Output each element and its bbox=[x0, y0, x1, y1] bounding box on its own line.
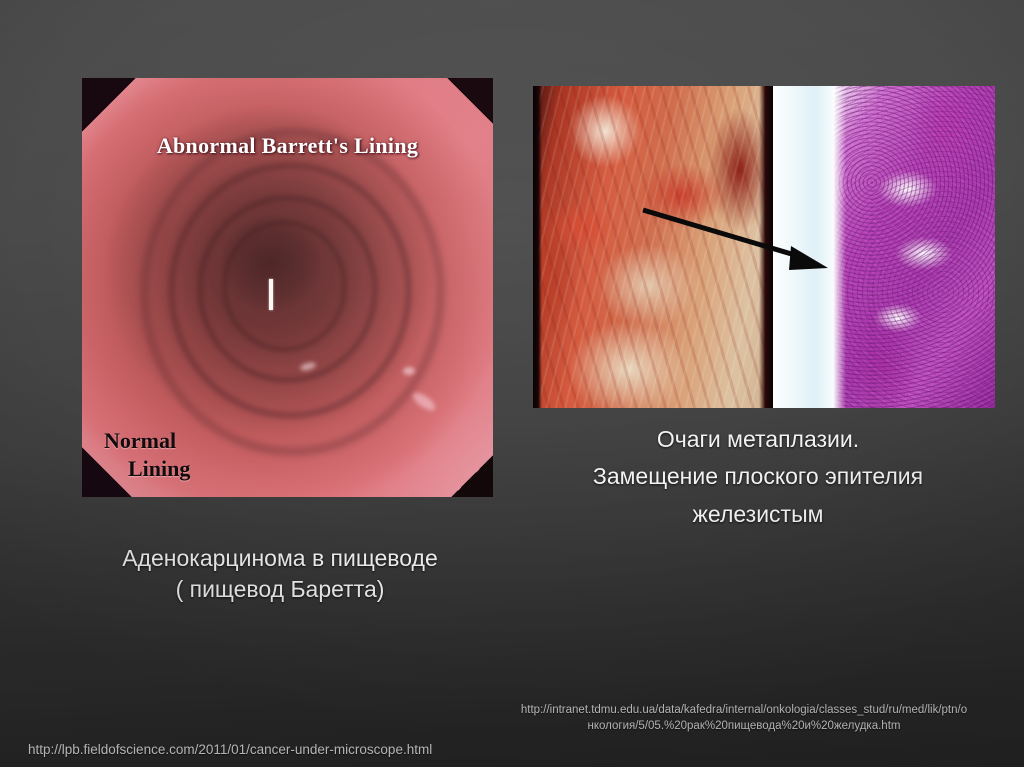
caption-left: Аденокарцинома в пищеводе ( пищевод Баре… bbox=[60, 543, 500, 606]
endoscopy-image: Abnormal Barrett's Lining Normal Lining bbox=[82, 78, 493, 497]
source-url-right[interactable]: http://intranet.tdmu.edu.ua/data/kafedra… bbox=[470, 702, 1018, 735]
caption-left-line1: Аденокарцинома в пищеводе bbox=[60, 543, 500, 574]
source-url-right-part2: нкология/5/05.%20рак%20пищевода%20и%20же… bbox=[470, 718, 1018, 734]
normal-lining-label-line1: Normal bbox=[104, 428, 176, 453]
caption-right-line3: железистым bbox=[512, 496, 1004, 533]
caption-right-line1: Очаги метаплазии. bbox=[512, 421, 1004, 458]
presentation-slide: Abnormal Barrett's Lining Normal Lining … bbox=[0, 0, 1024, 767]
abnormal-lining-label: Abnormal Barrett's Lining bbox=[82, 133, 493, 159]
source-url-left[interactable]: http://lpb.fieldofscience.com/2011/01/ca… bbox=[28, 742, 432, 757]
caption-right: Очаги метаплазии. Замещение плоского эпи… bbox=[512, 421, 1004, 533]
source-url-right-part1: http://intranet.tdmu.edu.ua/data/kafedra… bbox=[521, 704, 967, 716]
normal-lining-label-line2: Lining bbox=[104, 455, 190, 483]
normal-lining-label: Normal Lining bbox=[104, 427, 190, 483]
caption-right-line2: Замещение плоского эпителия bbox=[512, 458, 1004, 495]
pathology-image bbox=[533, 86, 995, 408]
caption-left-line2: ( пищевод Баретта) bbox=[60, 574, 500, 605]
pointer-arrow-icon bbox=[533, 86, 995, 408]
scale-tick-marker bbox=[269, 279, 273, 310]
